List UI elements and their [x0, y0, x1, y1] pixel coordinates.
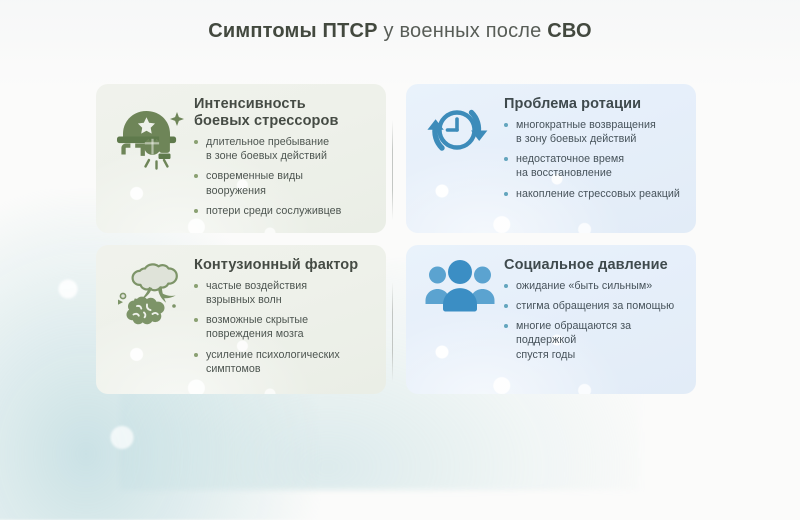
point-line1: частые воздействия: [206, 279, 374, 293]
card-title-line1: Интенсивность: [194, 96, 374, 113]
page-title-normal: у военных после: [378, 20, 547, 42]
point-line1: многократные возвращения: [516, 118, 684, 132]
card-title-line1: Социальное давление: [504, 257, 684, 274]
military-helmet-icon: [106, 94, 194, 182]
point-line1: современные виды: [206, 169, 374, 183]
card-intensity[interactable]: Интенсивность боевых стрессоров длительн…: [96, 84, 386, 233]
point-line2: повреждения мозга: [206, 327, 374, 341]
card-social-pressure[interactable]: Социальное давление ожидание «быть сильн…: [406, 245, 696, 394]
list-item: усиление психологических симптомов: [194, 348, 374, 376]
list-item: недостаточное время на восстановление: [504, 152, 684, 180]
point-line1: недостаточное время: [516, 152, 684, 166]
card-title: Контузионный фактор: [194, 257, 374, 274]
list-item: возможные скрытые повреждения мозга: [194, 313, 374, 341]
point-line1: длительное пребывание: [206, 135, 374, 149]
point-line1: потери среди сослуживцев: [206, 204, 374, 218]
card-body: Проблема ротации многократные возвращени…: [504, 94, 684, 201]
point-line1: возможные скрытые: [206, 313, 374, 327]
card-body: Интенсивность боевых стрессоров длительн…: [194, 94, 374, 218]
page-title-emphasis-2: СВО: [547, 20, 592, 42]
point-line2: в зону боевых действий: [516, 132, 684, 146]
card-body: Социальное давление ожидание «быть сильн…: [504, 255, 684, 362]
page-title-emphasis-1: Симптомы ПТСР: [208, 20, 378, 42]
card-points-list: многократные возвращения в зону боевых д…: [504, 118, 684, 201]
list-item: длительное пребывание в зоне боевых дейс…: [194, 135, 374, 163]
card-points-list: частые воздействия взрывных волн возможн…: [194, 279, 374, 376]
list-item: современные виды вооружения: [194, 169, 374, 197]
point-line2: симптомов: [206, 362, 374, 376]
card-title: Социальное давление: [504, 257, 684, 274]
clock-rotation-icon: [416, 94, 504, 182]
list-item: многократные возвращения в зону боевых д…: [504, 118, 684, 146]
card-title-line2: боевых стрессоров: [194, 113, 374, 130]
card-rotation[interactable]: Проблема ротации многократные возвращени…: [406, 84, 696, 233]
list-item: потери среди сослуживцев: [194, 204, 374, 218]
card-concussion[interactable]: Контузионный фактор частые воздействия в…: [96, 245, 386, 394]
card-title-line1: Контузионный фактор: [194, 257, 374, 274]
card-points-list: длительное пребывание в зоне боевых дейс…: [194, 135, 374, 218]
top-gradient-wash: [0, 0, 800, 90]
list-item: частые воздействия взрывных волн: [194, 279, 374, 307]
point-line2: вооружения: [206, 184, 374, 198]
card-title-line1: Проблема ротации: [504, 96, 684, 113]
point-line2: на восстановление: [516, 166, 684, 180]
point-line1: усиление психологических: [206, 348, 374, 362]
point-line2: взрывных волн: [206, 293, 374, 307]
card-body: Контузионный фактор частые воздействия в…: [194, 255, 374, 376]
list-item: стигма обращения за помощью: [504, 299, 684, 313]
group-people-icon: [416, 255, 504, 343]
point-line1: накопление стрессовых реакций: [516, 187, 684, 201]
card-points-list: ожидание «быть сильным» стигма обращения…: [504, 279, 684, 362]
point-line1: стигма обращения за помощью: [516, 299, 684, 313]
point-line1: ожидание «быть сильным»: [516, 279, 684, 293]
point-line2: в зоне боевых действий: [206, 149, 374, 163]
cards-grid: Интенсивность боевых стрессоров длительн…: [96, 84, 696, 394]
list-item: накопление стрессовых реакций: [504, 187, 684, 201]
card-title: Интенсивность боевых стрессоров: [194, 96, 374, 130]
list-item: ожидание «быть сильным»: [504, 279, 684, 293]
page-title: Симптомы ПТСР у военных после СВО: [0, 20, 800, 43]
point-line2: спустя годы: [516, 348, 684, 362]
point-line1: многие обращаются за поддержкой: [516, 319, 684, 347]
brain-blast-icon: [106, 255, 194, 343]
list-item: многие обращаются за поддержкой спустя г…: [504, 319, 684, 361]
card-title: Проблема ротации: [504, 96, 684, 113]
